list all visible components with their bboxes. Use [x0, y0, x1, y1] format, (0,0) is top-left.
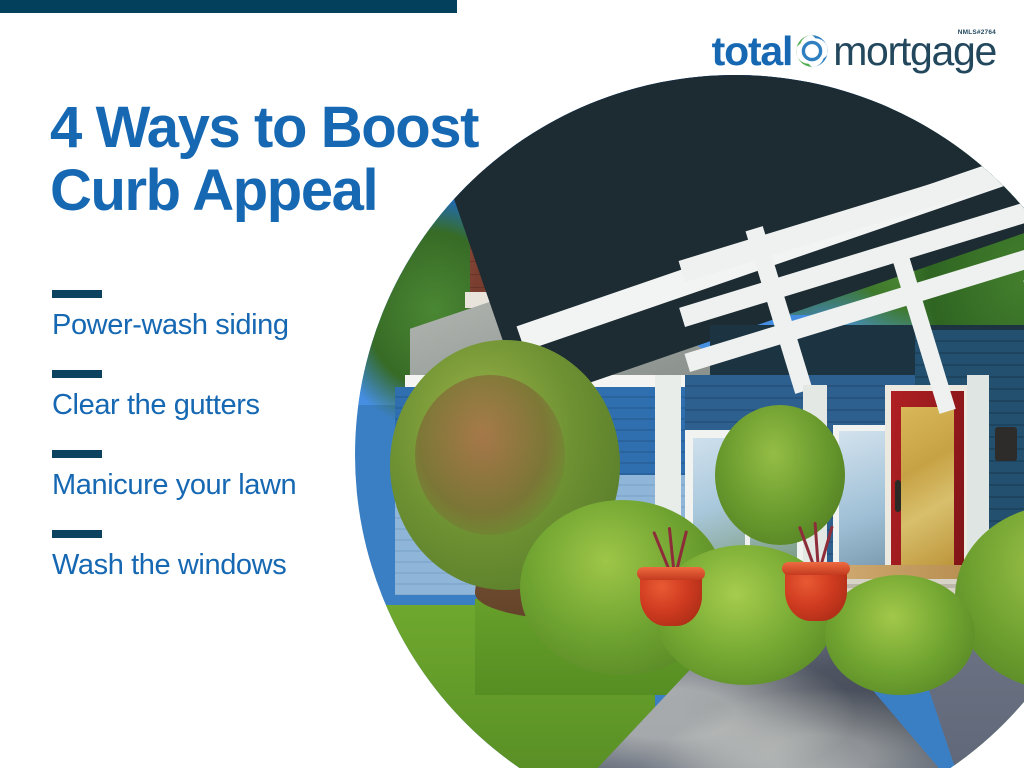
red-planter-rim: [782, 562, 850, 575]
flowering-shrub: [415, 375, 565, 535]
tip-label: Manicure your lawn: [52, 471, 352, 500]
window-glass: [839, 431, 885, 569]
logo-word-total: total: [712, 31, 793, 72]
red-planter-rim: [637, 567, 705, 580]
list-item: Manicure your lawn: [52, 450, 352, 500]
list-item: Wash the windows: [52, 530, 352, 580]
bullet-dash-icon: [52, 530, 102, 538]
door-handle: [895, 480, 901, 512]
bullet-dash-icon: [52, 290, 102, 298]
slide-canvas: total mortgage NMLS#2764 4 Ways to Boost…: [0, 0, 1024, 768]
total-mortgage-logo[interactable]: total mortgage NMLS#2764: [712, 26, 996, 76]
list-item: Clear the gutters: [52, 370, 352, 420]
logo-wordmark: total mortgage NMLS#2764: [712, 31, 996, 72]
porch-light: [995, 427, 1017, 461]
tip-label: Wash the windows: [52, 551, 352, 580]
tip-label: Clear the gutters: [52, 391, 352, 420]
logo-word-mortgage: mortgage: [833, 31, 996, 72]
bullet-dash-icon: [52, 370, 102, 378]
list-item: Power-wash siding: [52, 290, 352, 340]
shrub: [825, 575, 975, 695]
tip-label: Power-wash siding: [52, 311, 352, 340]
page-title: 4 Ways to Boost Curb Appeal: [50, 96, 520, 222]
door-glass-panel: [901, 407, 954, 577]
side-window: [833, 425, 891, 575]
top-accent-bar: [0, 0, 457, 13]
bullet-dash-icon: [52, 450, 102, 458]
total-mortgage-swirl-icon: [792, 31, 832, 71]
page-title-line-2: Curb Appeal: [50, 158, 377, 223]
logo-nmls-id: NMLS#2764: [958, 29, 996, 36]
page-title-line-1: 4 Ways to Boost: [50, 95, 478, 160]
tips-list: Power-wash siding Clear the gutters Mani…: [52, 290, 352, 580]
shrub: [715, 405, 845, 545]
